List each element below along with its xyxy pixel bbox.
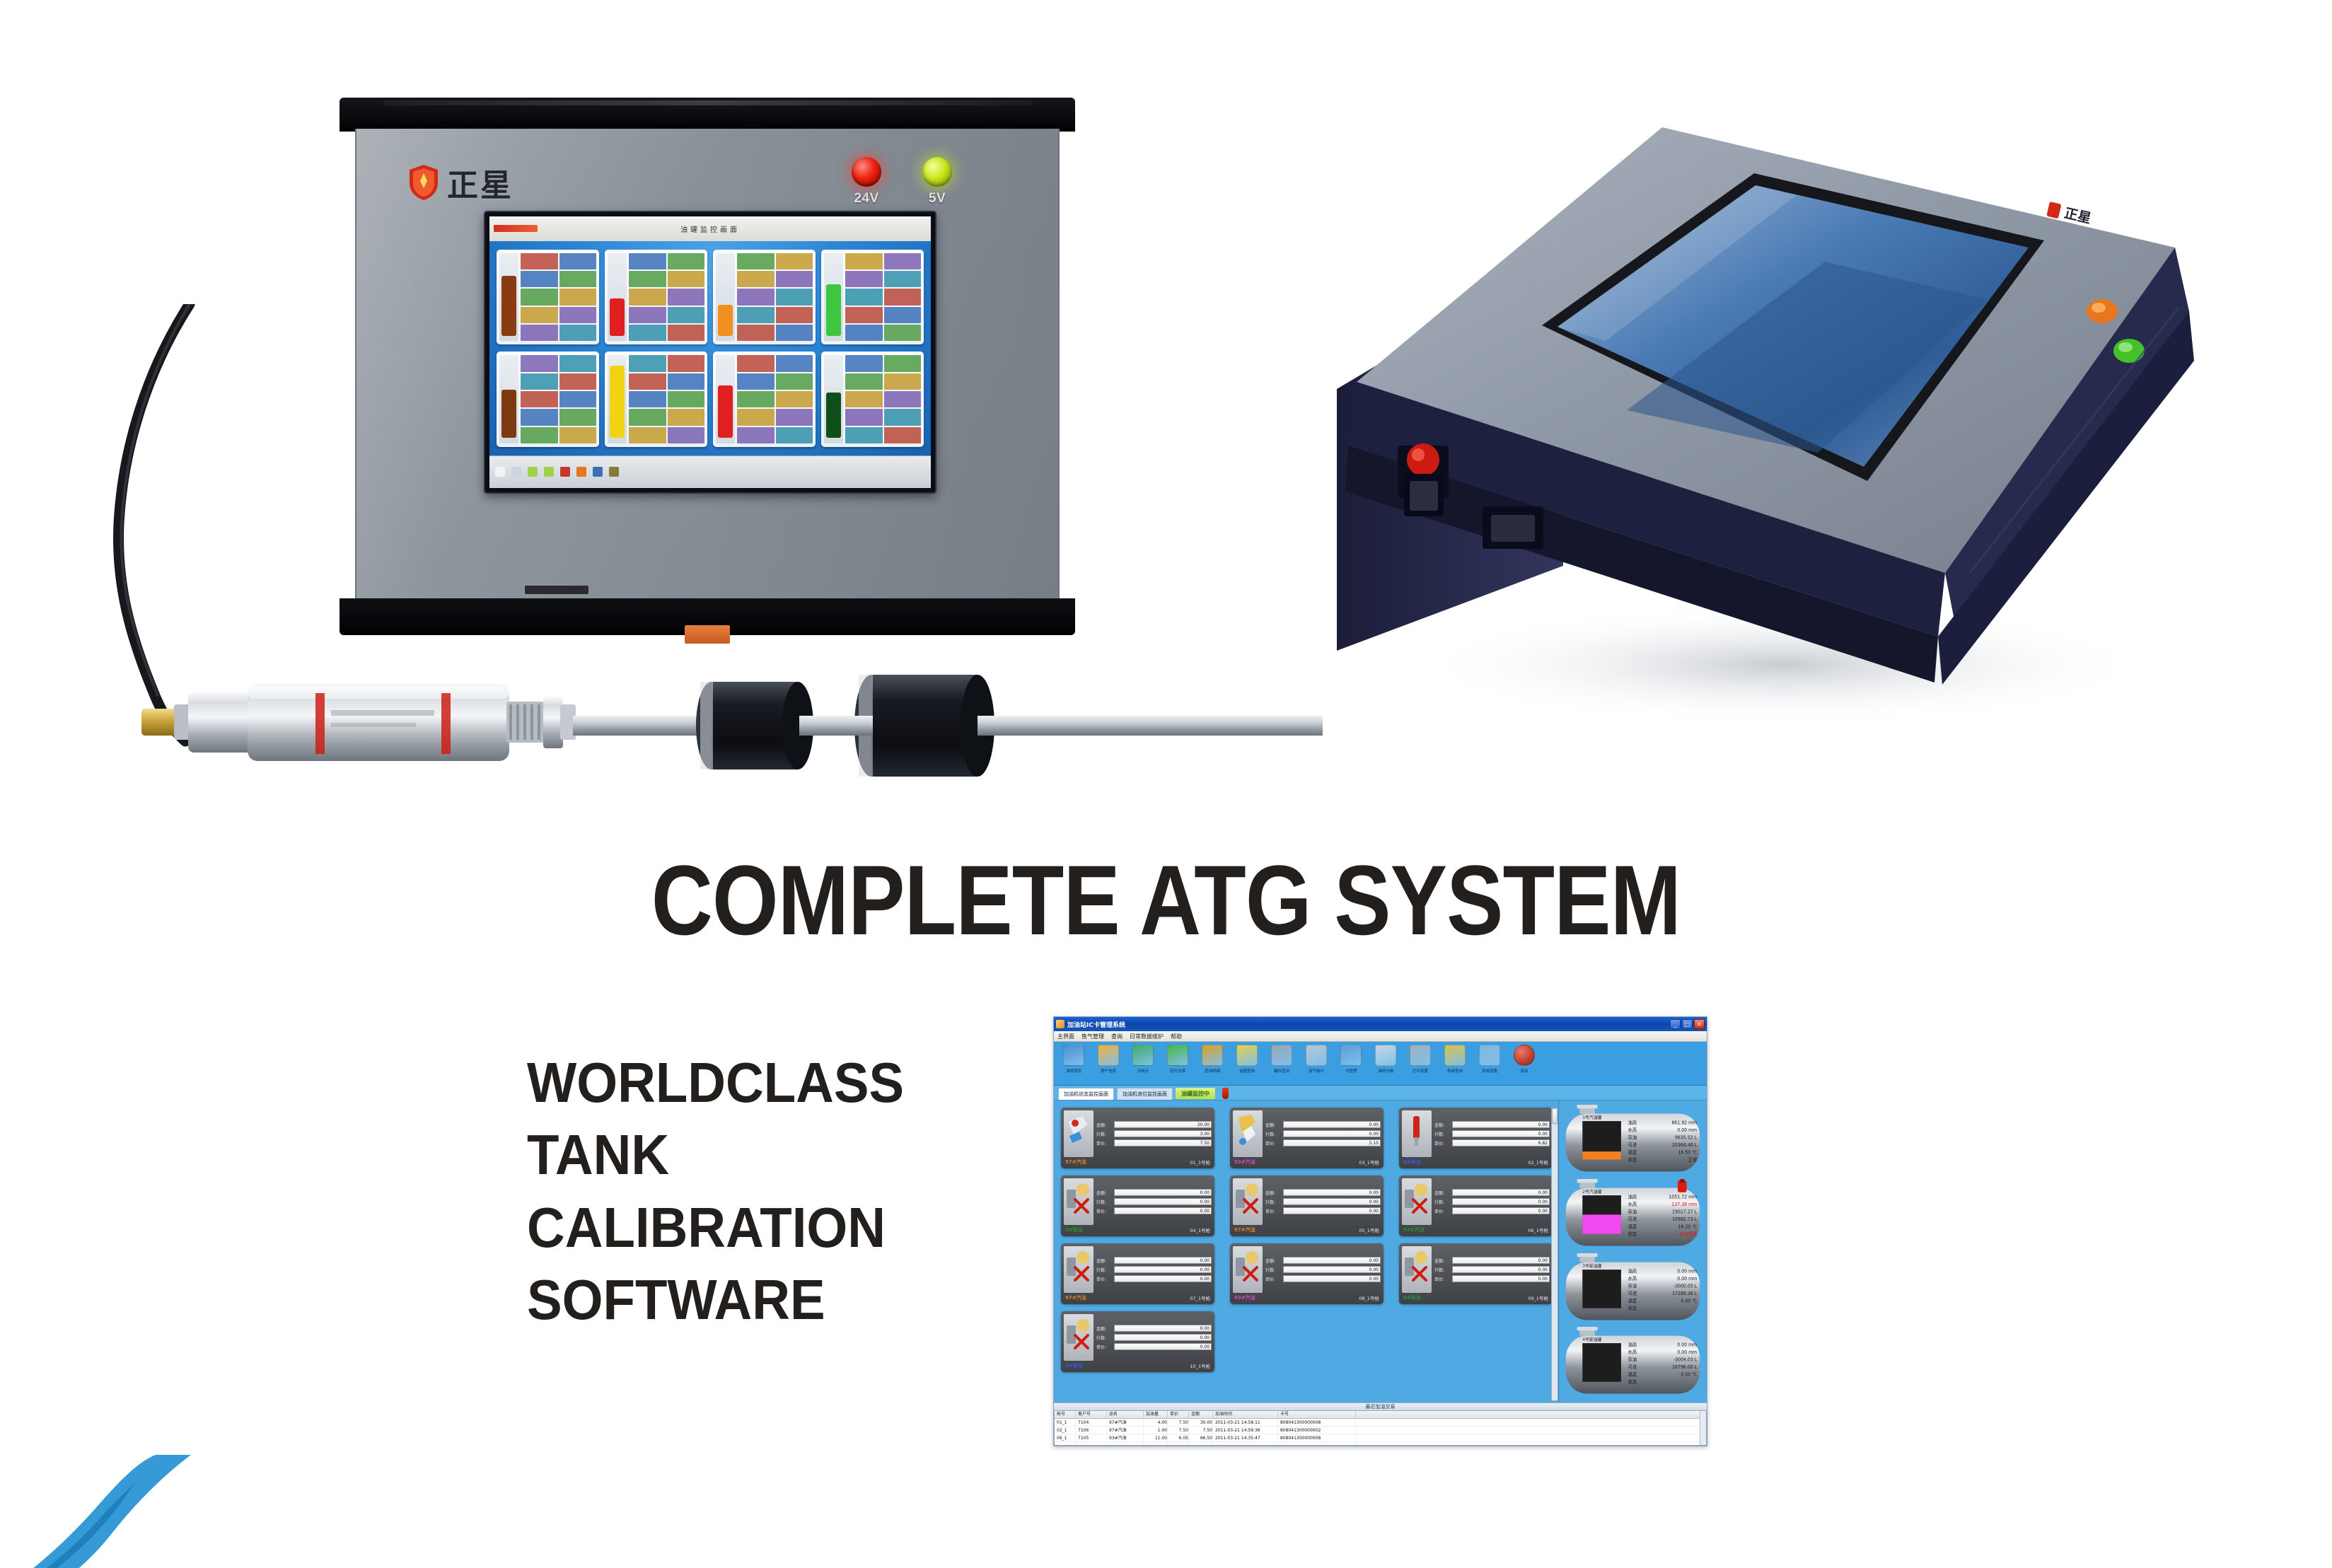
hmi-level-fill <box>718 385 733 439</box>
hmi-readout-col <box>521 253 557 342</box>
svg-text:状态: 状态 <box>1628 1156 1637 1163</box>
hmi-readout-cell <box>521 253 557 269</box>
hmi-readout-cell <box>737 271 774 287</box>
hmi-readout-cell <box>559 271 596 287</box>
toolbar-button-label: 系统查询 <box>1447 1067 1463 1073</box>
nozzle-field-label: 金额: <box>1096 1122 1112 1128</box>
svg-text:可进: 可进 <box>1628 1364 1637 1370</box>
hmi-readout-cell <box>845 271 882 287</box>
hmi-title-text: 油罐监控画面 <box>489 223 931 234</box>
alarm-red-icon[interactable] <box>560 467 570 477</box>
nozzle-field-label: 金额: <box>1265 1258 1281 1264</box>
hmi-screen-bezel: 油罐监控画面 <box>484 211 936 494</box>
hmi-readout-cell <box>776 391 813 407</box>
nozzle-card[interactable]: 金额:0.00升数:0.00单价:0.0097#汽油07_1号枪 <box>1061 1243 1214 1304</box>
svg-text:16.50 ℃: 16.50 ℃ <box>1678 1149 1697 1155</box>
start-icon[interactable] <box>495 467 505 477</box>
shield-logo-icon <box>409 164 439 201</box>
svg-text:状态: 状态 <box>1628 1378 1637 1385</box>
svg-text:温度: 温度 <box>1628 1223 1637 1229</box>
table-row[interactable]: 01_1710497#汽油4.007.5030.002011-03-21 14:… <box>1055 1419 1706 1427</box>
hmi-readout-cell <box>521 427 557 443</box>
hmi-readout-cell <box>737 409 774 425</box>
nozzle-field-row: 升数:0.00 <box>1434 1198 1550 1205</box>
table-caption: 最近加油交易 <box>1054 1403 1707 1410</box>
toolbar-button[interactable]: 系统查询 <box>1439 1045 1470 1074</box>
fuel-grade-label: 0#柴油 <box>1403 1294 1421 1301</box>
nozzle-card-top: 金额:0.00升数:0.00单价:0.00 <box>1402 1246 1550 1293</box>
toolbar-button[interactable]: 油枪价格 <box>1370 1045 1401 1074</box>
brand-mark: 正星 <box>409 160 514 205</box>
toolbar-button[interactable]: 客户信息 <box>1093 1045 1124 1074</box>
nozzle-card-top: 金额:0.00升数:0.00单价:0.00 <box>1233 1178 1381 1225</box>
nozzle-field-row: 单价:6.82 <box>1434 1139 1550 1146</box>
hmi-level-gauge <box>824 253 843 342</box>
nozzle-field-value: 20.00 <box>1114 1121 1212 1128</box>
nozzle-card[interactable]: 金额:0.00升数:0.00单价:5.1093#汽油03_1号枪 <box>1230 1108 1383 1168</box>
hmi-readout-cell <box>776 427 813 443</box>
nozzle-field-row: 升数:0.00 <box>1265 1198 1381 1205</box>
svg-text:水位超高: 水位超高 <box>1679 1230 1697 1236</box>
nozzle-field-row: 单价:0.00 <box>1434 1275 1550 1282</box>
fuel-grade-label: 93#汽油 <box>1403 1226 1425 1233</box>
hmi-readout-cell <box>559 427 596 443</box>
hmi-readout-cell <box>776 373 813 390</box>
nozzle-fields: 金额:0.00升数:0.00单价:0.00 <box>1434 1178 1550 1225</box>
hmi-level-fill <box>501 390 516 439</box>
table-cell: 02_1 <box>1055 1427 1076 1434</box>
hmi-level-fill <box>501 276 516 336</box>
svg-text:水高: 水高 <box>1628 1127 1637 1133</box>
nozzle-card[interactable]: 金额:0.00升数:0.00单价:0.000#柴油04_1号枪 <box>1061 1175 1214 1236</box>
nozzle-field-value: 0.00 <box>1283 1275 1381 1282</box>
search-icon <box>1202 1045 1223 1066</box>
nozzle-field-value: 7.50 <box>1114 1139 1212 1146</box>
nozzle-fields: 金额:0.00升数:0.00单价:0.00 <box>1096 1314 1212 1361</box>
hmi-readout-cell <box>629 325 666 341</box>
hmi-readout-cell <box>737 307 774 323</box>
toolbar-button[interactable]: 油枪状态 <box>1058 1045 1089 1074</box>
nozzle-card[interactable]: 金额:0.00升数:0.00单价:0.0093#汽油06_1号枪 <box>1399 1175 1553 1236</box>
hmi-readout-cell <box>629 355 666 371</box>
hmi-titlebar: 油罐监控画面 <box>489 216 931 241</box>
hmi-tank-card[interactable] <box>605 352 707 447</box>
tank-graphic[interactable]: 3号柴油罐油高0.00 mm水高0.00 mm存油-3000.05 L可进172… <box>1562 1253 1704 1325</box>
hmi-readout-col <box>776 253 813 342</box>
nozzle-panel-scrollbar[interactable] <box>1551 1108 1558 1401</box>
maximize-button[interactable]: □ <box>1682 1019 1693 1029</box>
minimize-button[interactable]: _ <box>1670 1019 1681 1029</box>
table-row[interactable]: 06_1710593#汽油11.006.0566.502011-03-21 14… <box>1055 1434 1706 1442</box>
hmi-tank-card[interactable] <box>821 352 924 447</box>
table-cell <box>1055 1442 1076 1446</box>
svg-text:-3000.05 L: -3000.05 L <box>1673 1283 1698 1289</box>
table-cell: 808041300000002 <box>1278 1427 1356 1434</box>
nozzle-field-row: 升数:0.00 <box>1265 1130 1381 1137</box>
hmi-readout-cell <box>737 325 774 341</box>
nozzle-offline-icon <box>1402 1178 1432 1225</box>
nozzle-field-value: 3.00 <box>1114 1130 1212 1137</box>
hmi-readout-cell <box>521 271 557 287</box>
svg-text:2号汽油罐: 2号汽油罐 <box>1582 1188 1601 1194</box>
nozzle-field-label: 升数: <box>1265 1267 1281 1273</box>
hmi-level-gauge <box>716 253 735 342</box>
nozzle-field-row: 升数:0.00 <box>1434 1130 1550 1137</box>
hmi-readout-col <box>668 253 704 342</box>
hmi-readout-cell <box>737 289 774 305</box>
fuel-green2-icon[interactable] <box>544 467 554 477</box>
svg-text:正常: 正常 <box>1688 1156 1697 1163</box>
nozzle-card-top: 金额:0.00升数:0.00单价:0.00 <box>1402 1178 1550 1225</box>
svg-text:0.00 mm: 0.00 mm <box>1677 1275 1697 1281</box>
hmi-readout-cell <box>668 289 704 305</box>
toolbar-button-label: 加气统计 <box>1309 1067 1324 1073</box>
hmi-readout-cell <box>521 391 557 407</box>
table-column-header: 卡号 <box>1278 1411 1356 1418</box>
table-cell <box>1107 1442 1144 1446</box>
nozzle-field-row: 金额:0.00 <box>1265 1257 1381 1264</box>
tank-graphic[interactable]: 2号汽油罐油高1051.72 mm水高137.38 mm存油19017.27 L… <box>1562 1179 1704 1250</box>
nozzle-field-label: 升数: <box>1434 1131 1450 1137</box>
toolbar-button-label: 罐存查询 <box>1274 1067 1289 1073</box>
nozzle-field-value: 0.00 <box>1452 1266 1550 1273</box>
nozzle-active-icon <box>1064 1110 1094 1157</box>
hmi-readout-cell <box>668 409 704 425</box>
nozzle-field-row: 单价:0.00 <box>1434 1207 1550 1214</box>
table-cell: 01_1 <box>1055 1419 1076 1426</box>
hmi-readout-cell <box>521 289 557 305</box>
toolbar-button[interactable]: 罐存查询 <box>1266 1045 1297 1074</box>
hmi-tank-card[interactable] <box>605 250 707 345</box>
fuel-grade-label: 0#柴油 <box>1065 1226 1083 1233</box>
nozzle-fields: 金额:0.00升数:0.00单价:0.00 <box>1434 1246 1550 1293</box>
tab-pump-status[interactable]: 加油机状态监控画面 <box>1058 1088 1114 1100</box>
panel-orange-tab <box>685 625 730 644</box>
nozzle-field-label: 金额: <box>1434 1258 1450 1264</box>
hmi-readout-cell <box>845 355 882 371</box>
coin-icon <box>1236 1045 1258 1066</box>
hmi-tank-card[interactable] <box>497 352 599 447</box>
table-row[interactable]: 02_1710697#汽油1.007.507.502011-03-21 14:5… <box>1055 1427 1706 1434</box>
hmi-level-gauge <box>499 355 518 443</box>
svg-text:存油: 存油 <box>1628 1356 1637 1362</box>
nozzle-card-footer: 0#柴油04_1号枪 <box>1064 1226 1212 1233</box>
table-cell <box>1189 1442 1213 1446</box>
table-cell: 93#汽油 <box>1107 1434 1144 1441</box>
magnetostrictive-probe-assembly <box>141 665 1323 799</box>
fuel-grade-label: 97#汽油 <box>1234 1226 1255 1233</box>
hmi-readout-grid <box>737 253 813 342</box>
hmi-readout-col <box>845 253 882 342</box>
menu-item[interactable]: 主界面 <box>1057 1033 1074 1040</box>
svg-text:油高: 油高 <box>1628 1119 1637 1125</box>
menu-bar[interactable]: 主界面售气管理查询日常数据维护帮助 <box>1054 1031 1707 1042</box>
scrollbar-thumb[interactable] <box>1552 1108 1557 1124</box>
flame-orange-icon[interactable] <box>576 467 586 477</box>
nozzle-field-label: 单价: <box>1096 1208 1112 1214</box>
svg-text:水高: 水高 <box>1628 1274 1637 1281</box>
nozzle-fill-icon <box>1233 1110 1263 1157</box>
nozzle-field-label: 金额: <box>1096 1325 1112 1332</box>
nozzle-panel: 金额:20.00升数:3.00单价:7.5097#汽油01_1号枪金额:0.00… <box>1054 1100 1558 1403</box>
hmi-readout-cell <box>776 355 813 371</box>
nozzle-card[interactable]: 金额:20.00升数:3.00单价:7.5097#汽油01_1号枪 <box>1061 1108 1214 1168</box>
window-icon[interactable] <box>511 467 521 477</box>
hmi-readout-cell <box>776 271 813 287</box>
hmi-readout-cell <box>884 373 921 390</box>
toolbar-button-label: 卡管理 <box>1345 1067 1357 1073</box>
hmi-level-gauge <box>716 355 735 443</box>
toolbar-button[interactable]: 查询明细 <box>1197 1045 1228 1074</box>
nozzle-fields: 金额:0.00升数:0.00单价:5.10 <box>1265 1110 1381 1157</box>
hmi-readout-cell <box>845 427 882 443</box>
nozzle-card[interactable]: 金额:0.00升数:0.00单价:0.0097#汽油05_1号枪 <box>1230 1175 1383 1236</box>
hmi-tank-card[interactable] <box>713 352 816 447</box>
fuel-grade-label: 0#柴油 <box>1403 1158 1421 1166</box>
table-column-header: 枪号 <box>1055 1411 1076 1418</box>
hmi-tank-card-grid[interactable] <box>489 241 931 455</box>
toolbar-button[interactable]: 金额查询 <box>1231 1045 1263 1074</box>
nozzle-field-label: 单价: <box>1096 1276 1112 1282</box>
menu-item[interactable]: 查询 <box>1111 1033 1123 1040</box>
toolbar-button-label: 班次交接 <box>1170 1067 1185 1073</box>
nozzle-fields: 金额:20.00升数:3.00单价:7.50 <box>1096 1110 1212 1157</box>
nozzle-field-value: 0.00 <box>1452 1275 1550 1282</box>
nozzle-field-row: 升数:0.00 <box>1434 1266 1550 1273</box>
exit-icon <box>1514 1045 1535 1066</box>
nozzle-field-value: 0.00 <box>1452 1189 1550 1196</box>
hmi-readout-cell <box>668 271 704 287</box>
tab-level-monitor[interactable]: 加油机液位监控画面 <box>1117 1088 1173 1100</box>
24v-power-led <box>852 157 881 187</box>
printer-icon <box>1410 1045 1431 1066</box>
hmi-readout-cell <box>776 409 813 425</box>
svg-text:1051.72 mm: 1051.72 mm <box>1669 1194 1697 1200</box>
nozzle-field-row: 升数:3.00 <box>1096 1130 1212 1137</box>
nozzle-card-top: 金额:20.00升数:3.00单价:7.50 <box>1064 1110 1212 1157</box>
hmi-readout-cell <box>737 355 774 371</box>
page-title: COMPLETE ATG SYSTEM <box>163 843 2169 958</box>
hmi-level-fill <box>826 393 841 439</box>
gear-icon <box>1479 1045 1500 1066</box>
hmi-readout-grid <box>737 355 813 443</box>
nozzle-field-row: 金额:0.00 <box>1096 1257 1212 1264</box>
svg-text:存油: 存油 <box>1628 1208 1637 1214</box>
nozzle-field-label: 升数: <box>1265 1199 1281 1205</box>
toolbar-button[interactable]: 系统设置 <box>1474 1045 1505 1074</box>
nozzle-offline-icon <box>1064 1314 1094 1361</box>
table-scrollbar[interactable] <box>1700 1411 1706 1445</box>
tank-calibration-software-window[interactable]: 加油站IC卡管理系统 _ □ ✕ 主界面售气管理查询日常数据维护帮助 油枪状态客… <box>1053 1016 1707 1446</box>
main-content-area: 金额:20.00升数:3.00单价:7.5097#汽油01_1号枪金额:0.00… <box>1054 1100 1707 1403</box>
nozzle-field-row: 升数:0.00 <box>1096 1334 1212 1341</box>
hmi-tank-card[interactable] <box>713 250 816 345</box>
hmi-readout-grid <box>521 253 596 342</box>
table-cell: 808041300000008 <box>1278 1434 1356 1441</box>
nozzle-id-label: 10_1号枪 <box>1190 1362 1210 1369</box>
nozzle-id-label: 09_1号枪 <box>1528 1294 1548 1301</box>
hmi-tank-card[interactable] <box>497 250 599 345</box>
menu-item[interactable]: 日常数据维护 <box>1130 1033 1164 1040</box>
table-cell: 30.00 <box>1189 1419 1213 1426</box>
hmi-readout-cell <box>845 373 882 390</box>
toolbar-button-label: 客户信息 <box>1101 1067 1116 1073</box>
doc-icon <box>1375 1045 1396 1066</box>
probe-blue-icon[interactable] <box>593 467 603 477</box>
hmi-readout-col <box>521 355 557 443</box>
close-button[interactable]: ✕ <box>1694 1019 1705 1029</box>
nozzle-card[interactable]: 金额:0.00升数:0.00单价:0.000#柴油09_1号枪 <box>1399 1243 1553 1304</box>
hmi-readout-col <box>668 355 704 443</box>
nozzle-card-footer: 0#柴油02_1号枪 <box>1402 1158 1550 1166</box>
hmi-readout-cell <box>668 325 704 341</box>
fuel-green-icon[interactable] <box>528 467 538 477</box>
hmi-taskbar[interactable] <box>489 455 931 488</box>
app-icon <box>1056 1020 1065 1028</box>
table-cell: 7106 <box>1076 1427 1107 1434</box>
svg-text:油高: 油高 <box>1628 1341 1637 1347</box>
hmi-readout-col <box>559 253 596 342</box>
table-column-header: 金额 <box>1189 1411 1213 1418</box>
nozzle-field-value: 0.00 <box>1452 1130 1550 1137</box>
hmi-readout-cell <box>884 325 921 341</box>
hmi-readout-cell <box>559 373 596 390</box>
nozzle-field-row: 金额:20.00 <box>1096 1121 1212 1128</box>
nozzle-field-label: 金额: <box>1265 1190 1281 1196</box>
nozzle-field-row: 金额:0.00 <box>1096 1325 1212 1332</box>
table-cell: 66.50 <box>1189 1434 1213 1441</box>
hmi-readout-cell <box>521 409 557 425</box>
nozzle-field-label: 金额: <box>1434 1122 1450 1128</box>
window-title: 加油站IC卡管理系统 <box>1067 1020 1667 1029</box>
nozzle-field-label: 金额: <box>1096 1190 1112 1196</box>
toolbar-button[interactable]: 退出 <box>1509 1045 1540 1074</box>
toolbar-button-label: 系统设置 <box>1482 1067 1497 1073</box>
svg-text:0.00 ℃: 0.00 ℃ <box>1681 1298 1697 1303</box>
svg-text:9635.52 L: 9635.52 L <box>1675 1134 1698 1140</box>
nozzle-card-top: 金额:0.00升数:0.00单价:0.00 <box>1064 1178 1212 1225</box>
nozzle-offline-icon <box>1233 1246 1263 1293</box>
nozzle-field-value: 0.00 <box>1283 1266 1381 1273</box>
24v-power-led-label: 24V <box>854 191 878 207</box>
nozzle-card[interactable]: 金额:0.00升数:0.00单价:0.0093#汽油08_1号枪 <box>1230 1243 1383 1304</box>
toolbar-button[interactable]: 打印设置 <box>1405 1045 1436 1074</box>
table-column-header: 加油量 <box>1144 1411 1168 1418</box>
hmi-level-fill <box>610 366 625 438</box>
alarm-red-icon <box>1222 1088 1229 1099</box>
window-controls[interactable]: _ □ ✕ <box>1670 1019 1705 1029</box>
toolbar-button[interactable]: 加气统计 <box>1301 1045 1332 1074</box>
nozzle-id-label: 01_1号枪 <box>1190 1158 1210 1166</box>
nozzle-card-top: 金额:0.00升数:0.00单价:6.82 <box>1402 1110 1550 1157</box>
feature-text-block: WORLDCLASSTANKCALIBRATIONSOFTWARE <box>527 1047 1001 1337</box>
hmi-readout-cell <box>884 307 921 323</box>
nozzle-field-label: 升数: <box>1096 1199 1112 1205</box>
nozzle-card-grid[interactable]: 金额:20.00升数:3.00单价:7.5097#汽油01_1号枪金额:0.00… <box>1061 1108 1553 1372</box>
nozzle-id-label: 03_1号枪 <box>1359 1158 1379 1166</box>
nozzle-field-value: 0.00 <box>1114 1334 1212 1341</box>
nozzle-card-footer: 0#柴油10_1号枪 <box>1064 1362 1212 1369</box>
hmi-tank-card[interactable] <box>821 250 924 345</box>
table-cell: 6.05 <box>1168 1434 1189 1441</box>
table-cell: 7.50 <box>1168 1419 1189 1426</box>
nozzle-field-label: 单价: <box>1096 1344 1112 1350</box>
hmi-readout-cell <box>845 307 882 323</box>
hmi-level-gauge <box>608 355 627 443</box>
tank-graphic[interactable]: 4号柴油罐油高0.00 mm水高0.00 mm存油-3004.03 L可进167… <box>1562 1327 1704 1398</box>
table-body[interactable]: 01_1710497#汽油4.007.5030.002011-03-21 14:… <box>1055 1419 1706 1446</box>
5v-power-led-label: 5V <box>929 191 946 207</box>
nozzle-offline-icon <box>1233 1178 1263 1225</box>
table-cell: 7104 <box>1076 1419 1107 1426</box>
magnify-icon <box>1444 1045 1466 1066</box>
tank-icon <box>1271 1045 1292 1066</box>
hmi-readout-cell <box>559 391 596 407</box>
svg-text:水高: 水高 <box>1628 1349 1637 1355</box>
table-row[interactable] <box>1055 1442 1706 1446</box>
nozzle-field-label: 金额: <box>1434 1190 1450 1196</box>
nozzle-card[interactable]: 金额:0.00升数:0.00单价:0.000#柴油10_1号枪 <box>1061 1311 1214 1372</box>
hmi-readout-cell <box>521 307 557 323</box>
panel-cable-port <box>525 586 588 594</box>
fuel-grade-label: 97#汽油 <box>1065 1158 1086 1166</box>
transaction-table[interactable]: 枪号客户号品名加油量单价金额加油时间卡号 01_1710497#汽油4.007.… <box>1054 1410 1707 1446</box>
nozzle-card-footer: 93#汽油03_1号枪 <box>1233 1158 1381 1166</box>
menu-item[interactable]: 帮助 <box>1171 1033 1182 1040</box>
nozzle-field-row: 单价:0.00 <box>1096 1207 1212 1214</box>
status-bar: 站名：801号加油站营业日期：2011-03-21班次：1当前用户：系统管理员 <box>1054 1446 1707 1446</box>
nozzle-field-value: 0.00 <box>1114 1275 1212 1282</box>
nozzle-offline-icon <box>1064 1178 1094 1225</box>
nozzle-card[interactable]: 金额:0.00升数:0.00单价:6.820#柴油02_1号枪 <box>1399 1108 1553 1168</box>
nozzle-card-footer: 0#柴油09_1号枪 <box>1402 1294 1550 1301</box>
svg-text:温度: 温度 <box>1628 1149 1637 1155</box>
toolbar-button[interactable]: 班次交接 <box>1162 1045 1193 1074</box>
hmi-readout-cell <box>668 253 704 269</box>
hmi-readout-cell <box>845 391 882 407</box>
hmi-readout-col <box>884 253 921 342</box>
clock-icon <box>1132 1045 1154 1066</box>
table-cell: 97#汽油 <box>1107 1419 1144 1426</box>
nozzle-field-value: 0.00 <box>1452 1198 1550 1205</box>
hmi-touchscreen[interactable]: 油罐监控画面 <box>489 216 931 488</box>
hmi-readout-cell <box>737 391 774 407</box>
tank-graphic[interactable]: 1号汽油罐油高661.92 mm水高0.00 mm存油9635.52 L可进20… <box>1562 1105 1704 1176</box>
nozzle-field-label: 升数: <box>1434 1199 1450 1205</box>
svg-text:661.92 mm: 661.92 mm <box>1671 1120 1697 1125</box>
settings-icon[interactable] <box>609 467 619 477</box>
tab-bar[interactable]: 加油机状态监控画面 加油机液位监控画面 油罐监控中 <box>1054 1086 1707 1100</box>
nozzle-field-row: 单价:0.00 <box>1096 1275 1212 1282</box>
hmi-readout-cell <box>737 253 774 269</box>
toolbar-button[interactable]: 日统计 <box>1127 1045 1159 1074</box>
hmi-readout-cell <box>629 271 666 287</box>
status-banner: 油罐监控中 <box>1176 1088 1215 1099</box>
toolbar-button[interactable]: 卡管理 <box>1335 1045 1367 1074</box>
hmi-readout-col <box>884 355 921 443</box>
hmi-readout-grid <box>845 355 921 443</box>
hand-icon <box>1098 1045 1119 1066</box>
menu-item[interactable]: 售气管理 <box>1081 1033 1104 1040</box>
nozzle-card-top: 金额:0.00升数:0.00单价:5.10 <box>1233 1110 1381 1157</box>
svg-text:20364.48 L: 20364.48 L <box>1672 1142 1698 1148</box>
svg-text:3号柴油罐: 3号柴油罐 <box>1582 1262 1601 1268</box>
feature-line: SOFTWARE <box>527 1264 1001 1336</box>
hmi-level-gauge <box>499 253 518 342</box>
nozzle-fields: 金额:0.00升数:0.00单价:6.82 <box>1434 1110 1550 1157</box>
nozzle-field-value: 0.00 <box>1114 1257 1212 1264</box>
toolbar[interactable]: 油枪状态客户信息日统计班次交接查询明细金额查询罐存查询加气统计卡管理油枪价格打印… <box>1054 1042 1707 1086</box>
